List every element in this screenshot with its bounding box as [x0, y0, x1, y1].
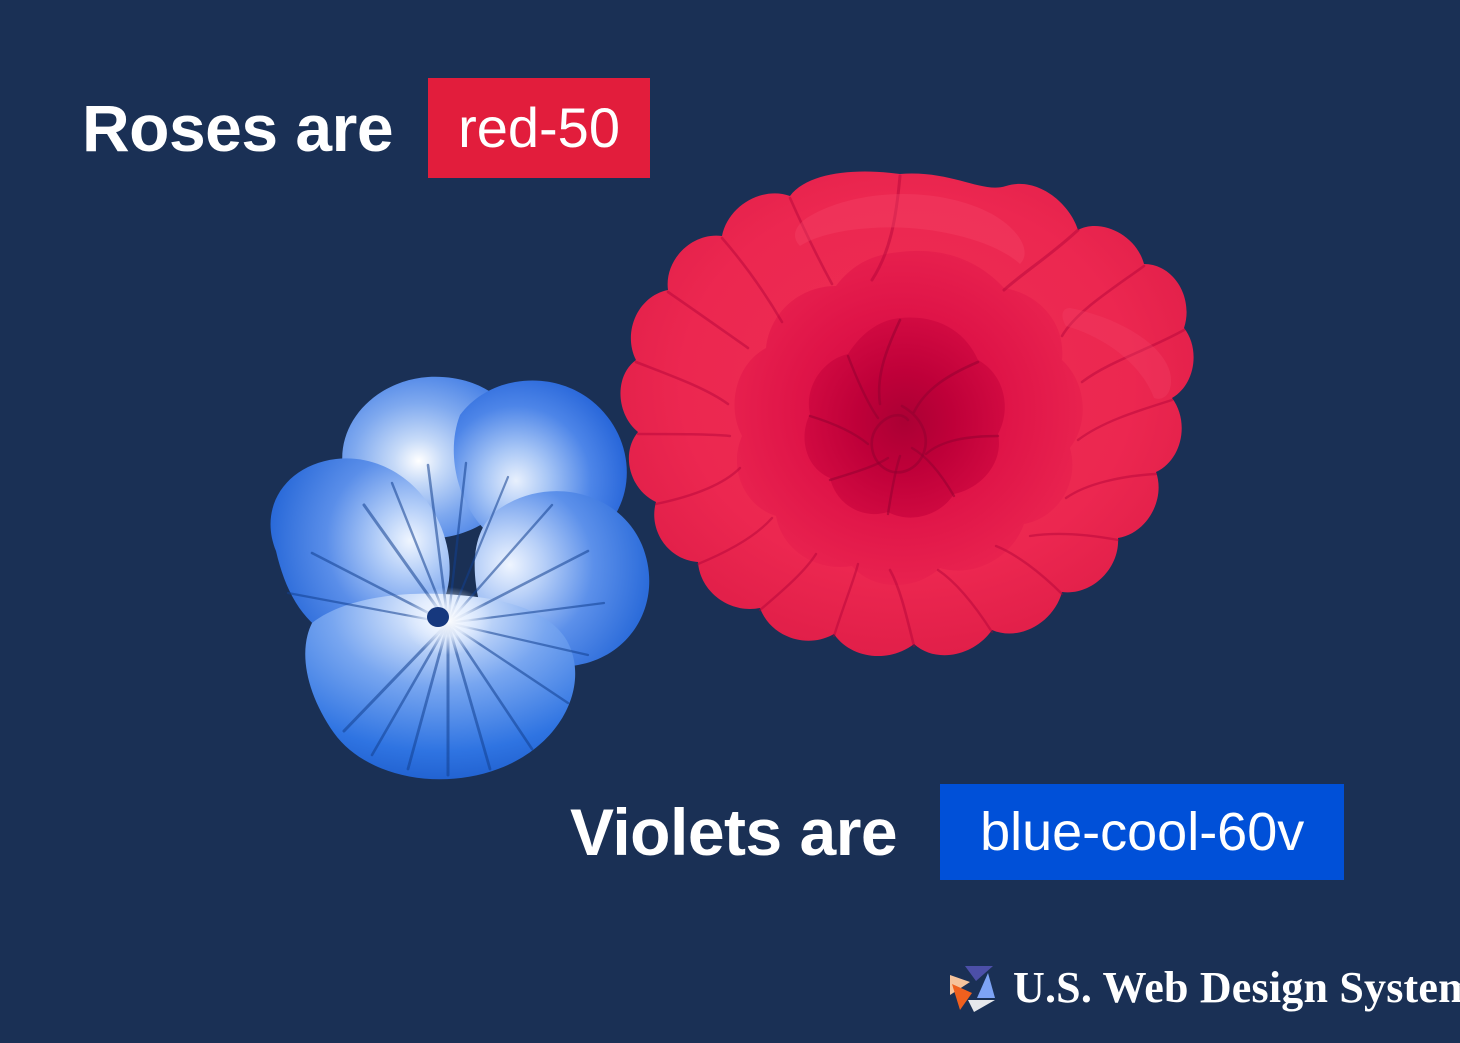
uswds-pinwheel-icon: [948, 962, 1000, 1014]
poster-canvas: Roses are red-50 Violets are blue-cool-6…: [0, 0, 1460, 1043]
roses-label: Roses are: [82, 95, 393, 161]
pansy-center-eye: [427, 607, 449, 627]
pinwheel-white-triangle: [968, 1000, 995, 1012]
uswds-wordmark: U.S. Web Design System: [1013, 966, 1460, 1010]
roses-line: Roses are red-50: [82, 78, 650, 178]
uswds-logo-lockup: U.S. Web Design System: [948, 958, 1460, 1018]
token-badge-blue-cool-60v: blue-cool-60v: [940, 784, 1344, 880]
violets-line: Violets are blue-cool-60v: [570, 784, 1344, 880]
token-badge-red-50: red-50: [428, 78, 650, 178]
violets-label: Violets are: [570, 799, 897, 865]
rose-flower-image: [600, 168, 1200, 758]
pinwheel-orange-triangle: [952, 984, 972, 1010]
